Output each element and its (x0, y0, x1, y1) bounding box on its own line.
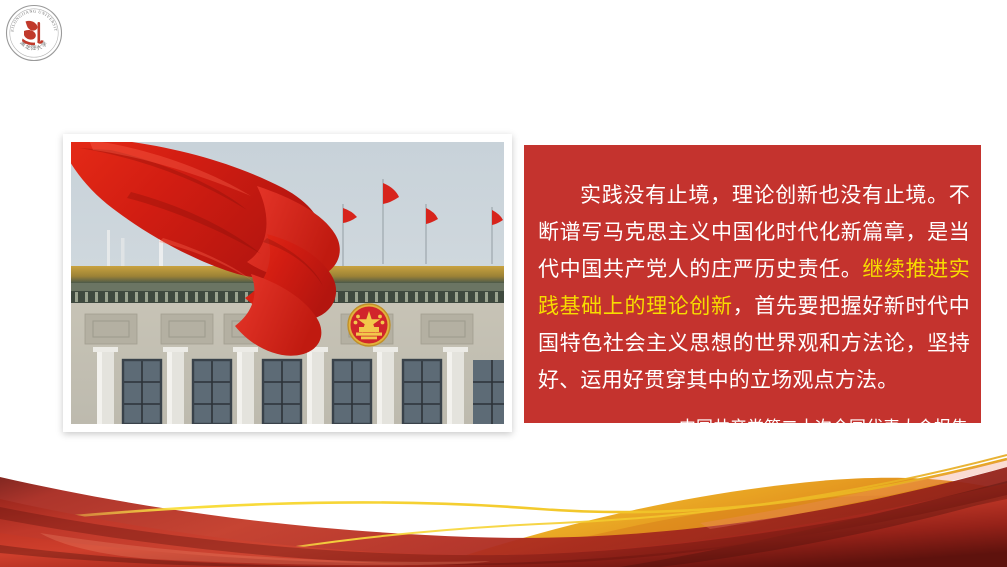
svg-text:1941: 1941 (30, 45, 38, 50)
quote-panel: 实践没有止境，理论创新也没有止境。不断谱写马克思主义中国化时代化新篇章，是当代中… (524, 145, 981, 423)
photo-image (71, 142, 504, 424)
national-emblem (348, 304, 390, 346)
quote-text: 实践没有止境，理论创新也没有止境。不断谱写马克思主义中国化时代化新篇章，是当代中… (538, 177, 970, 399)
quote-attribution: ——中国共产党第二十次全国代表大会报告 (538, 417, 970, 439)
ribbon-graphic (0, 437, 1007, 567)
great-hall-illustration (71, 142, 504, 424)
photo-frame (63, 134, 512, 432)
slide-canvas: HEILONGJIANG UNIVERSITY 黑龙江大学 1941 (0, 0, 1007, 567)
university-seal-icon: HEILONGJIANG UNIVERSITY 黑龙江大学 1941 (4, 3, 64, 63)
bottom-ribbon-decoration (0, 437, 1007, 567)
university-logo: HEILONGJIANG UNIVERSITY 黑龙江大学 1941 (4, 3, 64, 63)
